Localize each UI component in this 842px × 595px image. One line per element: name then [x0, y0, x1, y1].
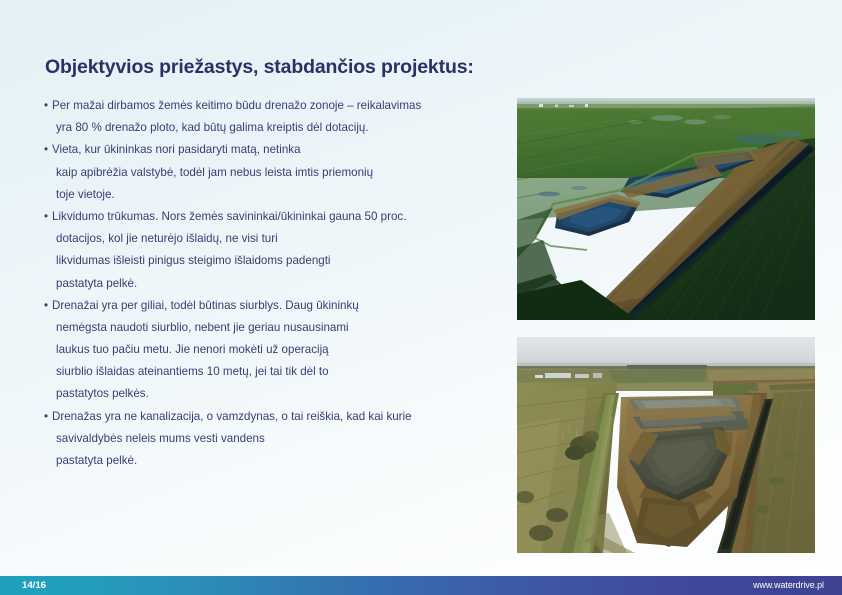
bullet-text: nemėgsta naudoti siurblio, nebent jie ge… [56, 321, 349, 334]
bullet-item: •Likvidumo trūkumas. Nors žemės savinink… [44, 206, 514, 295]
bullet-continuation-line: nemėgsta naudoti siurblio, nebent jie ge… [44, 317, 514, 339]
bullet-text: savivaldybės neleis mums vesti vandens [56, 432, 265, 445]
bullet-first-line: •Drenažai yra per giliai, todėl būtinas … [44, 295, 514, 317]
bullet-first-line: •Drenažas yra ne kanalizacija, o vamzdyn… [44, 406, 514, 428]
bullet-text: Likvidumo trūkumas. Nors žemės savininka… [52, 210, 406, 223]
bullet-continuation-line: kaip apibrėžia valstybė, todėl jam nebus… [44, 162, 514, 184]
aerial-drainage-ponds-green-fields [517, 98, 815, 320]
bullet-text: dotacijos, kol jie neturėjo išlaidų, ne … [56, 232, 278, 245]
bullet-text: Vieta, kur ūkininkas nori pasidaryti mat… [52, 143, 301, 156]
bullet-text: pastatyta pelkė. [56, 454, 137, 467]
bullet-continuation-line: pastatyta pelkė. [44, 273, 514, 295]
bullet-marker-icon: • [44, 139, 52, 161]
bullet-first-line: •Likvidumo trūkumas. Nors žemės savinink… [44, 206, 514, 228]
bullet-text: toje vietoje. [56, 188, 115, 201]
bullet-continuation-line: yra 80 % drenažo ploto, kad būtų galima … [44, 117, 514, 139]
bullet-first-line: •Per mažai dirbamos žemės keitimo būdu d… [44, 95, 514, 117]
presentation-slide: Objektyvios priežastys, stabdančios proj… [0, 0, 842, 595]
bullet-item: •Per mažai dirbamos žemės keitimo būdu d… [44, 95, 514, 139]
bullet-marker-icon: • [44, 206, 52, 228]
footer-bar: 14/16 www.waterdrive.pl [0, 576, 842, 595]
bullet-continuation-line: savivaldybės neleis mums vesti vandens [44, 428, 514, 450]
bullet-marker-icon: • [44, 95, 52, 117]
page-number: 14/16 [22, 576, 46, 595]
bullet-text: pastatyta pelkė. [56, 277, 137, 290]
bullet-continuation-line: likvidumas išleisti pinigus steigimo išl… [44, 250, 514, 272]
bullet-marker-icon: • [44, 295, 52, 317]
bullet-continuation-line: siurblio išlaidas ateinantiems 10 metų, … [44, 361, 514, 383]
bullet-text: Per mažai dirbamos žemės keitimo būdu dr… [52, 99, 421, 112]
bullet-text: laukus tuo pačiu metu. Jie nenori mokėti… [56, 343, 329, 356]
bullet-item: •Vieta, kur ūkininkas nori pasidaryti ma… [44, 139, 514, 206]
bullet-text: Drenažai yra per giliai, todėl būtinas s… [52, 299, 359, 312]
aerial-photo-top-graphic [517, 98, 815, 320]
bullet-continuation-line: dotacijos, kol jie neturėjo išlaidų, ne … [44, 228, 514, 250]
bullet-text: likvidumas išleisti pinigus steigimo išl… [56, 254, 331, 267]
bullet-item: •Drenažas yra ne kanalizacija, o vamzdyn… [44, 406, 514, 473]
bullet-item: •Drenažai yra per giliai, todėl būtinas … [44, 295, 514, 406]
bullet-list: •Per mažai dirbamos žemės keitimo būdu d… [44, 95, 514, 472]
bullet-text: siurblio išlaidas ateinantiems 10 metų, … [56, 365, 329, 378]
aerial-constructed-wetland-reedbed [517, 337, 815, 553]
bullet-continuation-line: pastatytos pelkės. [44, 383, 514, 405]
bullet-continuation-line: pastatyta pelkė. [44, 450, 514, 472]
bullet-continuation-line: laukus tuo pačiu metu. Jie nenori mokėti… [44, 339, 514, 361]
page-title: Objektyvios priežastys, stabdančios proj… [45, 56, 474, 79]
bullet-first-line: •Vieta, kur ūkininkas nori pasidaryti ma… [44, 139, 514, 161]
footer-website-link[interactable]: www.waterdrive.pl [753, 576, 824, 595]
bullet-marker-icon: • [44, 406, 52, 428]
bullet-continuation-line: toje vietoje. [44, 184, 514, 206]
bullet-text: Drenažas yra ne kanalizacija, o vamzdyna… [52, 410, 412, 423]
bullet-text: kaip apibrėžia valstybė, todėl jam nebus… [56, 166, 373, 179]
aerial-photo-bottom-graphic [517, 337, 815, 553]
bullet-text: yra 80 % drenažo ploto, kad būtų galima … [56, 121, 369, 134]
bullet-text: pastatytos pelkės. [56, 387, 149, 400]
